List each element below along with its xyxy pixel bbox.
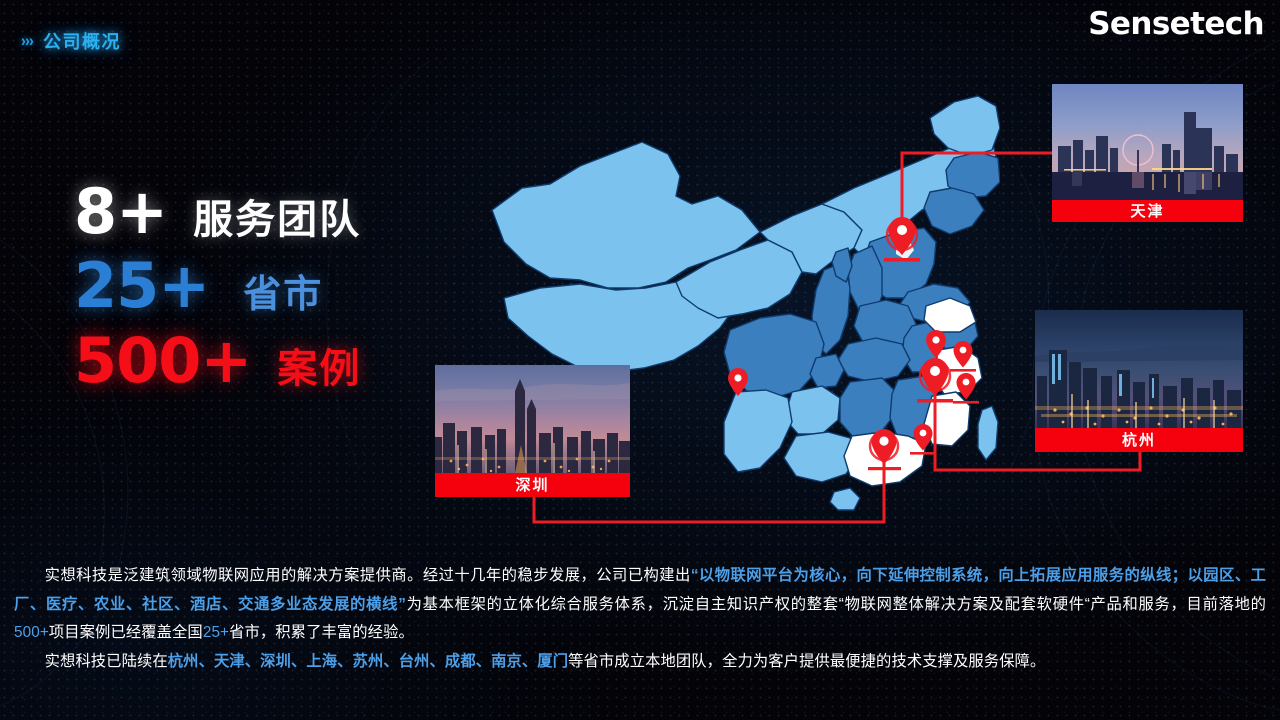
stat-row-provinces: 25+ 省市 [74,257,361,318]
city-card-label-tianjin: 天津 [1052,200,1243,222]
p1-seg4: 省市，积累了丰富的经验。 [229,624,414,641]
section-tag: ››› 公司概况 [20,28,121,54]
paragraph-2: 实想科技已陆续在杭州、天津、深圳、上海、苏州、台州、成都、南京、厦门等省市成立本… [14,648,1266,677]
p2-seg1: 实想科技已陆续在 [45,653,168,670]
city-card-label-hangzhou: 杭州 [1035,428,1243,452]
region-chongqing [810,354,844,388]
stat-number-teams: 8+ [74,183,167,242]
region-taiwan [978,406,998,460]
page-title: 公司概况 [43,28,121,54]
p1-number-cases: 500+ [14,624,49,641]
stat-number-cases: 500+ [74,332,251,391]
city-card-label-shenzhen: 深圳 [435,473,630,497]
region-fujian [924,392,970,446]
region-yunnan [724,390,792,472]
paragraph-1: 实想科技是泛建筑领域物联网应用的解决方案提供商。经过十几年的稳步发展，公司已构建… [14,562,1266,648]
stat-label-cases: 案例 [277,336,361,394]
p1-seg3: 项目案例已经覆盖全国 [49,624,203,641]
shenzhen-skyline-photo [435,365,630,473]
slide-header: ››› 公司概况 Sensetech [0,0,1280,66]
region-sichuan [724,314,824,398]
region-hubei [838,338,910,382]
city-card-tianjin[interactable]: 天津 [1052,84,1243,222]
city-card-shenzhen[interactable]: 深圳 [435,365,630,497]
region-hunan [840,378,896,438]
region-hainan [830,488,860,510]
stat-label-provinces: 省市 [243,263,323,318]
region-heilongjiang [930,96,1000,156]
region-liaoning [924,188,984,234]
region-guangdong [844,432,926,486]
region-guizhou [784,386,840,434]
p2-city-list: 杭州、天津、深圳、上海、苏州、台州、成都、南京、厦门 [168,653,568,670]
stat-number-provinces: 25+ [74,257,209,316]
stat-row-cases: 500+ 案例 [74,332,361,394]
city-card-hangzhou[interactable]: 杭州 [1035,310,1243,452]
chevrons-right-icon: ››› [21,31,33,51]
brand-logo: Sensetech [1088,6,1264,42]
stat-row-teams: 8+ 服务团队 [74,183,361,245]
stats-block: 8+ 服务团队 25+ 省市 500+ 案例 [74,183,361,394]
p1-number-provinces: 25+ [203,624,229,641]
p1-seg1: 实想科技是泛建筑领域物联网应用的解决方案提供商。经过十几年的稳步发展，公司已构建… [45,567,691,584]
hangzhou-skyline-photo [1035,310,1243,428]
region-zhejiang [934,346,982,394]
p1-seg2: 为基本框架的立体化综合服务体系，沉淀自主知识产权的整套“物联网整体解决方案及配套… [406,596,1266,613]
body-copy: 实想科技是泛建筑领域物联网应用的解决方案提供商。经过十几年的稳步发展，公司已构建… [14,562,1266,676]
tianjin-skyline-photo [1052,84,1243,200]
stat-label-teams: 服务团队 [193,187,361,245]
p2-seg2: 等省市成立本地团队，全力为客户提供最便捷的技术支撑及服务保障。 [568,653,1045,670]
